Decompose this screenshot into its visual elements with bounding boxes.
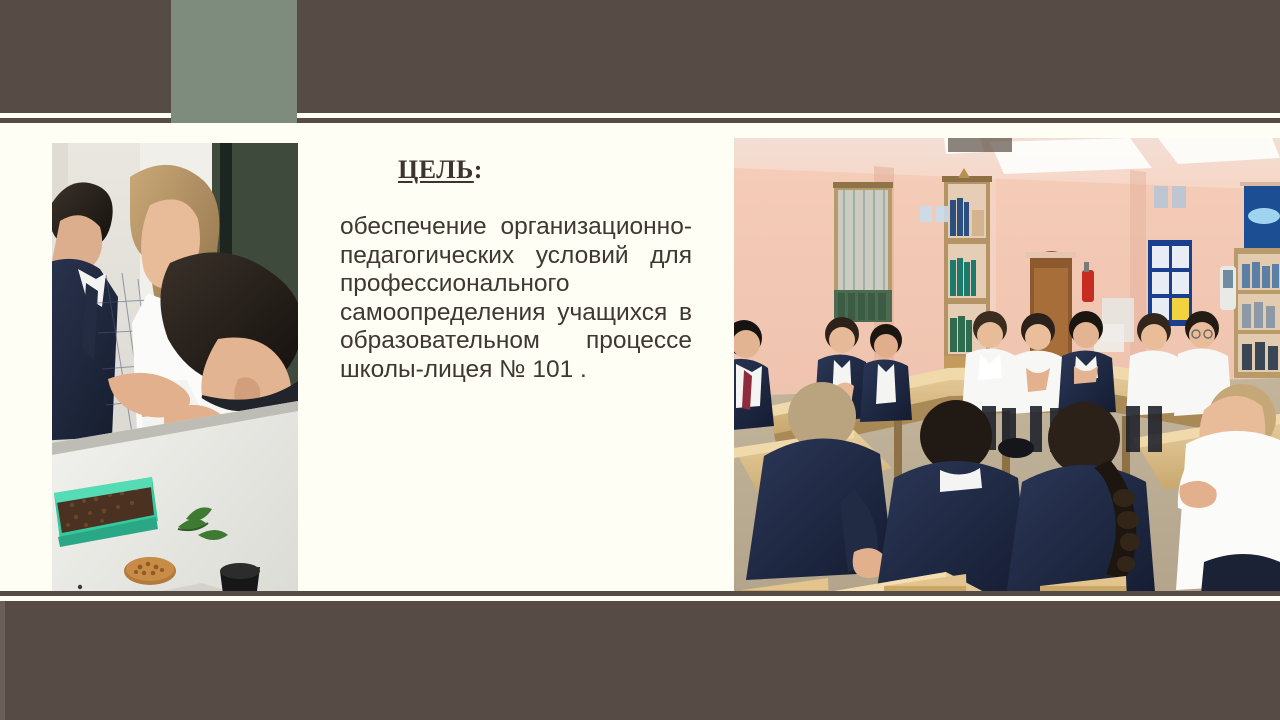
text-block: ЦЕЛЬ: обеспечение организационно-педагог… xyxy=(340,155,692,384)
goal-paragraph: обеспечение организационно-педагогически… xyxy=(340,213,692,384)
presentation-slide: ЦЕЛЬ: обеспечение организационно-педагог… xyxy=(0,0,1280,720)
bottom-band-edge-accent xyxy=(0,601,5,720)
slide-content: ЦЕЛЬ: обеспечение организационно-педагог… xyxy=(0,123,1280,591)
bottom-decorative-band xyxy=(0,601,1280,720)
page-title: ЦЕЛЬ: xyxy=(340,155,692,185)
goal-label: ЦЕЛЬ xyxy=(398,155,474,184)
goal-colon: : xyxy=(474,155,483,184)
